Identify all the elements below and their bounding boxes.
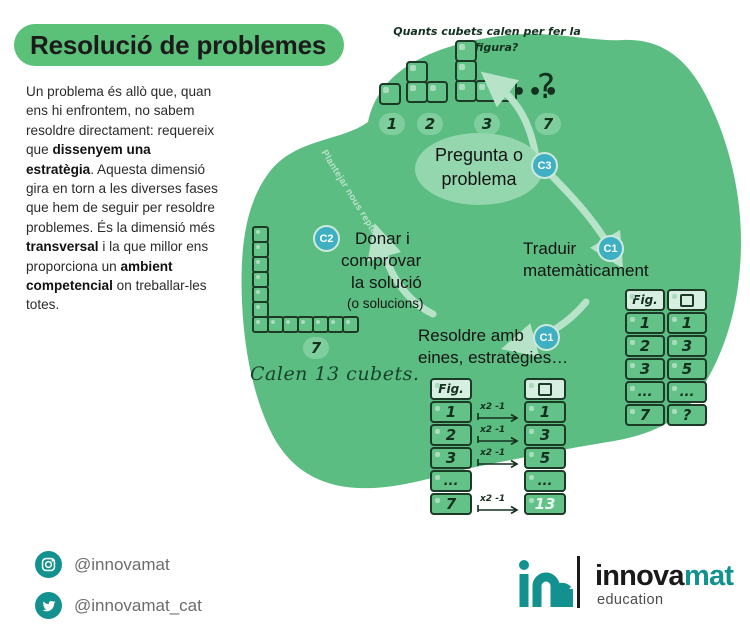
table-right-header-count <box>667 289 707 311</box>
table-bottom-cell-fig: 3 <box>430 447 472 469</box>
solution-figure-label: 7 <box>303 337 329 359</box>
table-bottom-cell-out: 1 <box>524 401 566 423</box>
cube <box>455 80 477 102</box>
cube <box>455 40 477 62</box>
infographic-root: Resolució de problemes Un problema és al… <box>0 0 750 638</box>
step-resoldre: Resoldre amb eines, estratègies… <box>418 325 598 369</box>
intro-paragraph: Un problema és allò que, quan ens hi enf… <box>26 82 222 315</box>
table-right-cell-fig: 1 <box>625 312 665 334</box>
table-bottom-cell-out: 3 <box>524 424 566 446</box>
table-bottom-cell-out: 5 <box>524 447 566 469</box>
step-traduir-line2: matemàticament <box>523 260 693 282</box>
cube <box>379 83 401 105</box>
figure-label-1: 1 <box>379 113 405 135</box>
operation-arrow <box>476 412 520 422</box>
operation-arrow <box>476 435 520 445</box>
table-right-cell-fig: 7 <box>625 404 665 426</box>
figure-label-3: 3 <box>474 113 500 135</box>
table-right-cell-fig: ... <box>625 381 665 403</box>
social-instagram-handle: @innovamat <box>74 555 170 575</box>
operation-label: x2 -1 <box>480 494 505 504</box>
badge-c1-resoldre[interactable]: C1 <box>533 324 560 351</box>
square-icon <box>680 294 694 307</box>
table-bottom-cell-fig: 1 <box>430 401 472 423</box>
figure-1-cubes <box>379 83 405 109</box>
table-right-cell-fig: 2 <box>625 335 665 357</box>
logo-word-dark: innova <box>595 560 684 593</box>
square-icon <box>538 383 552 396</box>
table-bottom-cell-fig: 7 <box>430 493 472 515</box>
table-right-cell-fig: 3 <box>625 358 665 380</box>
social-twitter-handle: @innovamat_cat <box>74 596 202 616</box>
table-right-cell-out: ... <box>667 381 707 403</box>
table-bottom-header-fig: Fig. <box>430 378 472 400</box>
cycle-center-label: Pregunta o problema <box>409 143 549 191</box>
table-bottom-header-count <box>524 378 566 400</box>
operation-label: x2 -1 <box>480 425 505 435</box>
cube <box>455 60 477 82</box>
operation-arrow <box>476 458 520 468</box>
social-twitter[interactable]: @innovamat_cat <box>35 592 202 619</box>
figure-7-question-mark: ? <box>537 70 555 104</box>
table-bottom-cell-out-highlight: 13 <box>524 493 566 515</box>
twitter-icon <box>35 592 62 619</box>
logo-tagline: education <box>597 592 664 608</box>
badge-c3[interactable]: C3 <box>531 152 558 179</box>
logo-word-accent: mat <box>684 560 733 593</box>
cube <box>342 316 359 333</box>
im-monogram-icon <box>515 556 573 608</box>
table-bottom: Fig. 1 x2 -1 1 2 x2 -1 3 3 x2 -1 5 ... .… <box>430 378 570 508</box>
page-title: Resolució de problemes <box>30 30 350 61</box>
solution-answer-text: Calen 13 cubets. <box>250 363 419 385</box>
figure-label-7: 7 <box>535 113 561 135</box>
table-right-cell-out: 5 <box>667 358 707 380</box>
cube <box>475 80 497 102</box>
figure-2-cubes <box>406 61 454 109</box>
operation-label: x2 -1 <box>480 448 505 458</box>
cube <box>406 61 428 83</box>
instagram-icon <box>35 551 62 578</box>
table-right-cell-out: 3 <box>667 335 707 357</box>
badge-c1-traduir[interactable]: C1 <box>597 235 624 262</box>
step-resoldre-line2: eines, estratègies… <box>418 347 598 369</box>
cube <box>426 81 448 103</box>
operation-label: x2 -1 <box>480 402 505 412</box>
table-right: Fig. 1 1 2 3 3 5 ... ... 7 ? <box>625 289 721 419</box>
table-bottom-cell-out: ... <box>524 470 566 492</box>
cube <box>406 81 428 103</box>
table-right-cell-out: ? <box>667 404 707 426</box>
table-right-cell-out: 1 <box>667 312 707 334</box>
operation-arrow <box>476 504 520 514</box>
solution-figure-cubes <box>252 226 382 336</box>
brand-logo: innova mat education <box>515 552 730 614</box>
table-bottom-cell-fig: ... <box>430 470 472 492</box>
figure-label-2: 2 <box>417 113 443 135</box>
step-resoldre-line1: Resoldre amb <box>418 325 598 347</box>
social-instagram[interactable]: @innovamat <box>35 551 170 578</box>
logo-divider <box>577 556 580 608</box>
table-right-header-fig: Fig. <box>625 289 665 311</box>
table-bottom-cell-fig: 2 <box>430 424 472 446</box>
